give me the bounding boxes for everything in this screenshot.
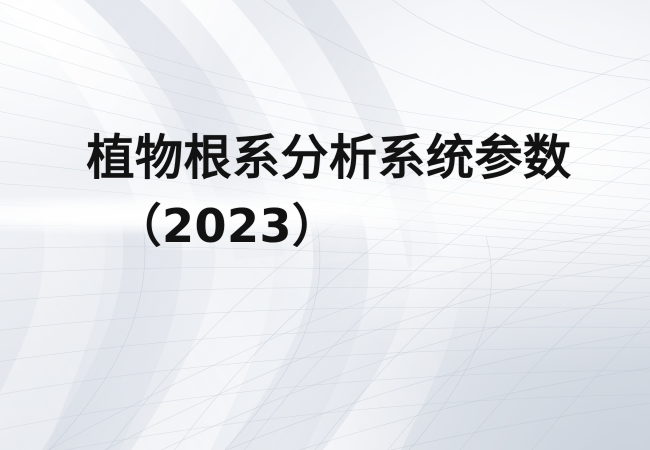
- page-title: 植物根系分析系统参数: [0, 134, 650, 182]
- title-block: 植物根系分析系统参数 （2023）: [0, 134, 650, 249]
- title-slide: 植物根系分析系统参数 （2023）: [0, 0, 650, 450]
- page-subtitle-year: （2023）: [0, 203, 650, 249]
